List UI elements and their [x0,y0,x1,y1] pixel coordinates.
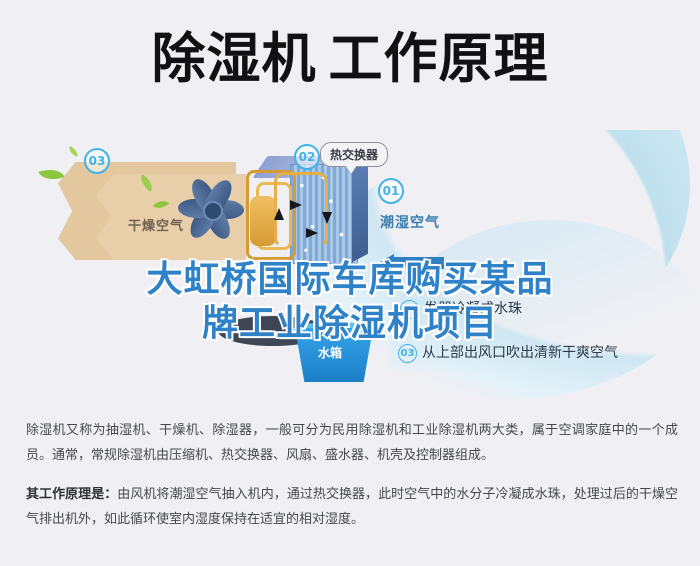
machine-internals [244,156,374,306]
title-segment-2: 工作原理 [329,27,549,90]
flow-arrow-down-icon [322,212,332,224]
page-title: 除湿机工作原理 [0,28,700,90]
caption-badge-02: 02 [400,300,419,319]
caption-badge-03: 03 [398,344,417,363]
title-segment-1: 除湿机 [152,27,317,90]
paragraph-2-rest: 由风机将潮湿空气抽入机内，通过热交换器，此时空气中的水分子冷凝成水珠，处理过后的… [26,487,678,527]
leaf-icon [67,146,80,157]
caption-step-03: 03从上部出风口吹出清新干爽空气 [398,342,618,363]
caption-step-02: 02发器冷凝成水珠 [400,298,522,319]
fan-icon [172,170,250,248]
page-title-text: 除湿机工作原理 [152,28,549,90]
flow-arrow-right-icon [306,228,318,238]
body-copy: 除湿机又称为抽湿机、干燥机、除湿器，一般可分为民用除湿机和工业除湿机两大类，属于… [26,418,678,546]
moist-air-label: 潮湿空气 [380,212,440,232]
compressor-icon [250,196,276,246]
heat-exchanger-callout: 热交换器 [320,142,388,167]
caption-text-02: 发器冷凝成水珠 [424,301,522,317]
flow-arrow-up-icon [274,208,284,220]
caption-text-03: 从上部出风口吹出清新干爽空气 [422,345,618,361]
flow-arrow-right-icon [290,200,302,210]
infographic-page: 除湿机工作原理 干燥空气 [0,0,700,566]
step-badge-01: 01 [378,178,404,204]
water-tank-label: 水箱 [318,344,342,361]
step-badge-02: 02 [294,144,320,170]
paragraph-2-lead: 其工作原理是： [26,487,117,502]
moist-air-intake-arrow [378,254,444,272]
dehumidifier-diagram: 干燥空气 [0,130,700,405]
paragraph-2: 其工作原理是：由风机将潮湿空气抽入机内，通过热交换器，此时空气中的水分子冷凝成水… [26,482,678,532]
paragraph-1: 除湿机又称为抽湿机、干燥机、除湿器，一般可分为民用除湿机和工业除湿机两大类，属于… [26,418,678,468]
step-badge-03: 03 [84,148,110,174]
